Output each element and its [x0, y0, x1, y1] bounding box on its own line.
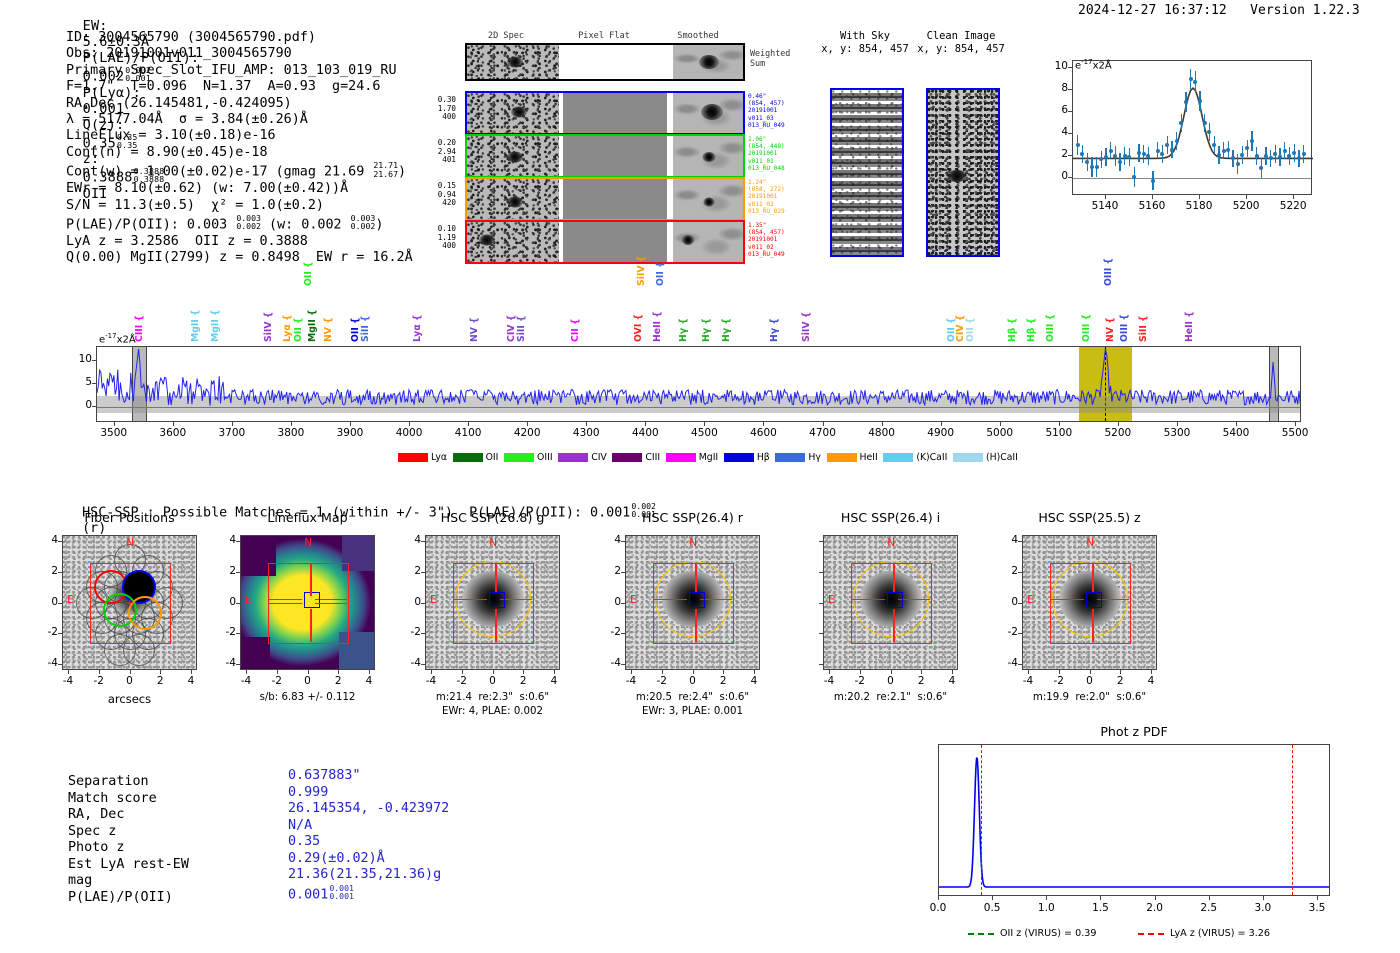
- phot-z-xtick-mark: [1046, 896, 1047, 900]
- phot-z-xtick-7: 3.5: [1297, 902, 1337, 914]
- phot-z-xtick-1: 0.5: [972, 902, 1012, 914]
- phot-z-xtick-mark: [938, 896, 939, 900]
- phot-z-xtick-4: 2.0: [1135, 902, 1175, 914]
- phot-z-xtick-2: 1.0: [1026, 902, 1066, 914]
- phot-z-marker-0: [981, 745, 982, 895]
- phot-z-legend-label-1: LyA z (VIRUS) = 3.26: [1170, 928, 1270, 939]
- phot-z-xtick-mark: [1155, 896, 1156, 900]
- phot-z-legend-swatch-0: [968, 933, 994, 935]
- phot-z-title: Phot z PDF: [1034, 724, 1234, 739]
- phot-z-xtick-6: 3.0: [1243, 902, 1283, 914]
- phot-z-xtick-mark: [1100, 896, 1101, 900]
- phot-z-pdf-chart: Phot z PDF0.00.51.01.52.02.53.03.5OII z …: [0, 0, 1400, 953]
- phot-z-xtick-mark: [1317, 896, 1318, 900]
- phot-z-marker-1: [1292, 745, 1293, 895]
- phot-z-legend-swatch-1: [1138, 933, 1164, 935]
- phot-z-curve: [939, 745, 1330, 896]
- phot-z-legend-label-0: OII z (VIRUS) = 0.39: [1000, 928, 1097, 939]
- phot-z-xtick-0: 0.0: [918, 902, 958, 914]
- phot-z-xtick-5: 2.5: [1189, 902, 1229, 914]
- phot-z-xtick-3: 1.5: [1080, 902, 1120, 914]
- phot-z-xtick-mark: [1209, 896, 1210, 900]
- phot-z-axes: [938, 744, 1330, 896]
- phot-z-xtick-mark: [992, 896, 993, 900]
- phot-z-xtick-mark: [1263, 896, 1264, 900]
